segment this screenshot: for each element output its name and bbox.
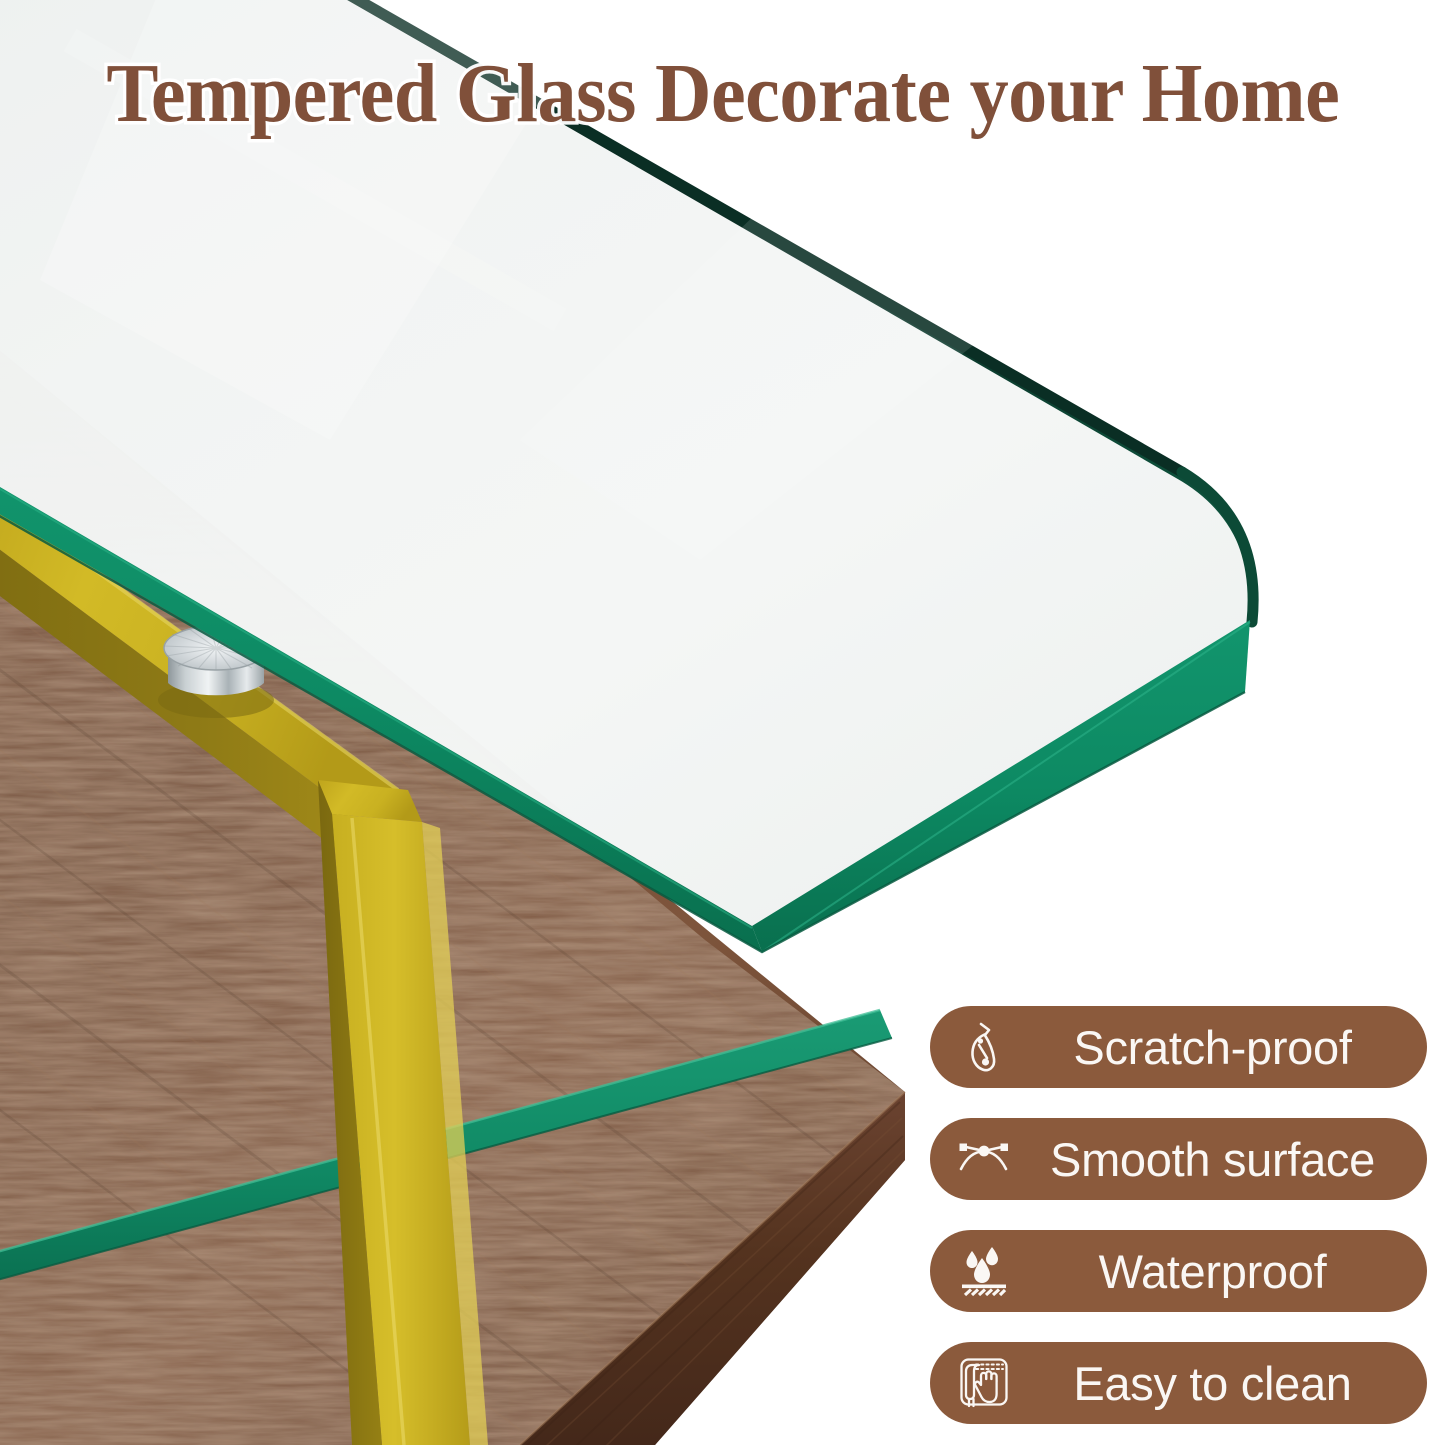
feature-badge-easy-to-clean[interactable]: Easy to clean bbox=[930, 1342, 1427, 1424]
water-droplets-icon bbox=[956, 1243, 1012, 1299]
feature-badge-waterproof[interactable]: Waterproof bbox=[930, 1230, 1427, 1312]
feature-label: Easy to clean bbox=[1022, 1360, 1409, 1407]
utility-knife-icon bbox=[956, 1019, 1012, 1075]
feature-label: Waterproof bbox=[1022, 1248, 1409, 1295]
feature-badge-scratch-proof[interactable]: Scratch-proof bbox=[930, 1006, 1427, 1088]
feature-badge-list: Scratch-proof Smooth surface bbox=[930, 1006, 1427, 1424]
feature-label: Smooth surface bbox=[1022, 1136, 1409, 1183]
hand-wipe-icon bbox=[956, 1355, 1012, 1411]
feature-badge-smooth-surface[interactable]: Smooth surface bbox=[930, 1118, 1427, 1200]
bezier-curve-icon bbox=[956, 1131, 1012, 1187]
product-feature-image: Tempered Glass Decorate your Home Scratc… bbox=[0, 0, 1445, 1445]
feature-label: Scratch-proof bbox=[1022, 1024, 1409, 1071]
